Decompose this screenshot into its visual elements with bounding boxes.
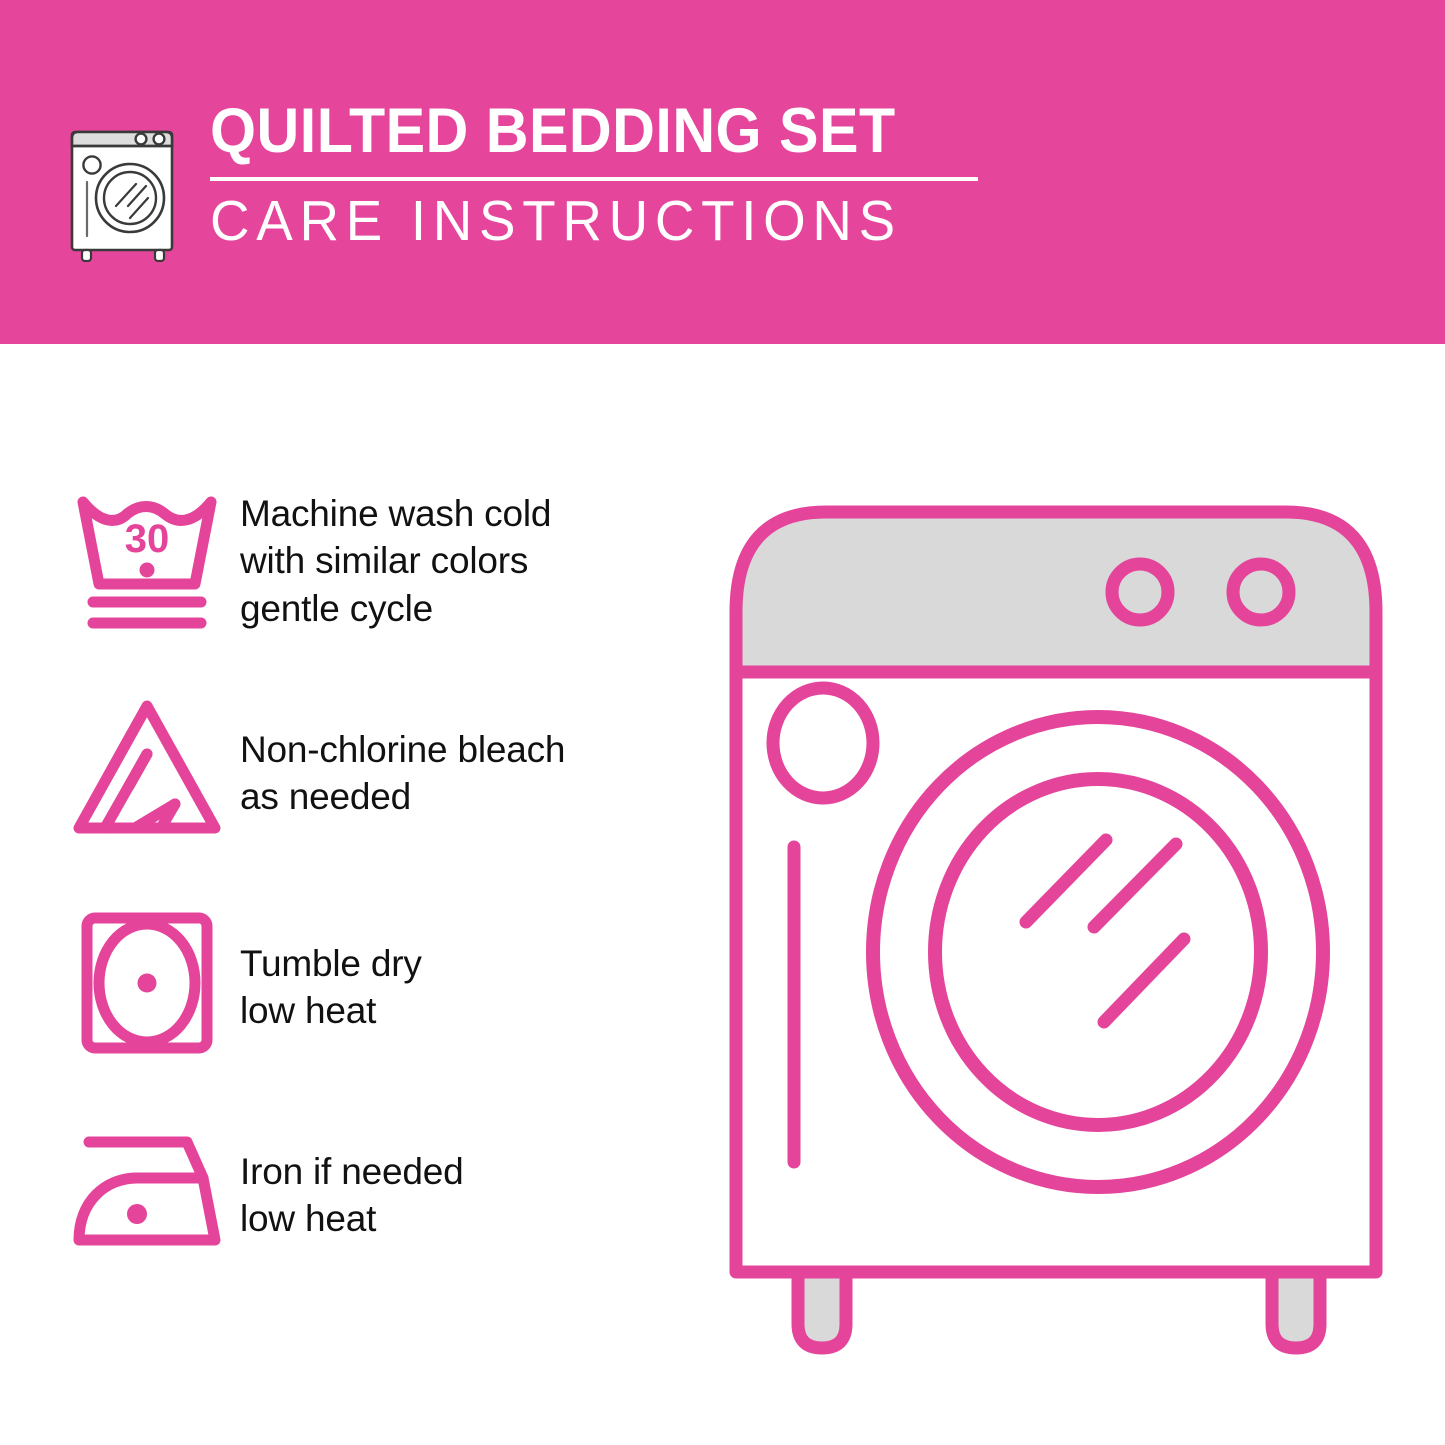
door-window[interactable] bbox=[935, 779, 1261, 1125]
care-item-bleach: Non-chlorine bleach as needed bbox=[60, 682, 700, 894]
washing-machine-icon bbox=[62, 102, 186, 262]
wash-temperature-label: 30 bbox=[125, 517, 170, 561]
care-instruction-list: 30 Machine wash cold with similar colors… bbox=[60, 470, 700, 1318]
machine-foot-left bbox=[798, 1272, 846, 1348]
care-item-wash: 30 Machine wash cold with similar colors… bbox=[60, 470, 700, 682]
care-item-iron: Iron if needed low heat bbox=[60, 1106, 700, 1318]
grey-control-panel bbox=[736, 512, 1376, 672]
header-divider bbox=[210, 177, 978, 181]
non-chlorine-bleach-icon bbox=[60, 682, 240, 852]
washing-machine-illustration bbox=[706, 462, 1406, 1372]
care-item-tumble-dry: Tumble dry low heat bbox=[60, 894, 700, 1106]
care-item-iron-label: Iron if needed low heat bbox=[240, 1106, 700, 1243]
care-instructions-infographic: QUILTED BEDDING SET CARE INSTRUCTIONS bbox=[0, 0, 1445, 1445]
care-item-bleach-label: Non-chlorine bleach as needed bbox=[240, 682, 700, 821]
page-subtitle: CARE INSTRUCTIONS bbox=[210, 193, 902, 250]
tumble-dry-low-icon bbox=[60, 894, 240, 1064]
detergent-dispenser-circle[interactable] bbox=[773, 688, 873, 798]
machine-wash-30-gentle-icon: 30 bbox=[60, 470, 240, 640]
header-content: QUILTED BEDDING SET CARE INSTRUCTIONS bbox=[62, 100, 978, 262]
machine-foot-right bbox=[1272, 1272, 1320, 1348]
page-title: QUILTED BEDDING SET bbox=[210, 100, 896, 163]
iron-low-heat-icon bbox=[60, 1106, 240, 1276]
door-reflection-lines bbox=[1026, 840, 1184, 1022]
header-banner: QUILTED BEDDING SET CARE INSTRUCTIONS bbox=[0, 0, 1445, 344]
care-item-wash-label: Machine wash cold with similar colors ge… bbox=[240, 470, 700, 632]
header-text-block: QUILTED BEDDING SET CARE INSTRUCTIONS bbox=[210, 100, 978, 250]
care-item-tumble-dry-label: Tumble dry low heat bbox=[240, 894, 700, 1035]
